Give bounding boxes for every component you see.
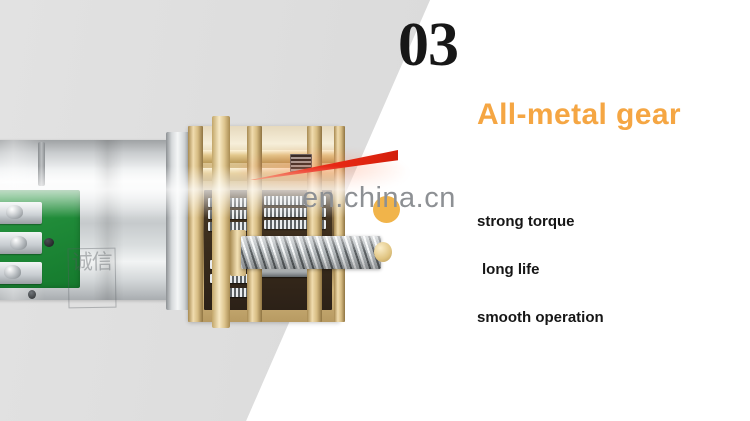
gearbox-flange bbox=[212, 116, 230, 328]
promo-banner: 诚信 03 All-metal gear strong torque long … bbox=[0, 0, 750, 421]
seal-stamp-watermark: 诚信 bbox=[67, 248, 116, 309]
solder-blob bbox=[10, 236, 27, 250]
worm-lead-screw-highlight bbox=[241, 236, 381, 269]
gear-shaft bbox=[256, 268, 310, 277]
pcb-lead bbox=[28, 290, 36, 299]
step-number: 03 bbox=[398, 14, 458, 76]
feature-item-long-life: long life bbox=[477, 262, 747, 277]
feature-list: strong torque long life smooth operation bbox=[477, 214, 747, 358]
gearbox-plate bbox=[188, 126, 203, 322]
page-title: All-metal gear bbox=[477, 98, 681, 131]
screw-tip bbox=[374, 242, 392, 262]
pcb-component bbox=[44, 238, 54, 247]
feature-item-smooth-operation: smooth operation bbox=[477, 310, 747, 325]
site-watermark: en.china.cn bbox=[302, 182, 456, 215]
solder-blob bbox=[4, 265, 21, 279]
solder-blob bbox=[6, 205, 23, 219]
feature-item-strong-torque: strong torque bbox=[477, 214, 747, 229]
motor-barrel-crimp bbox=[38, 142, 45, 186]
